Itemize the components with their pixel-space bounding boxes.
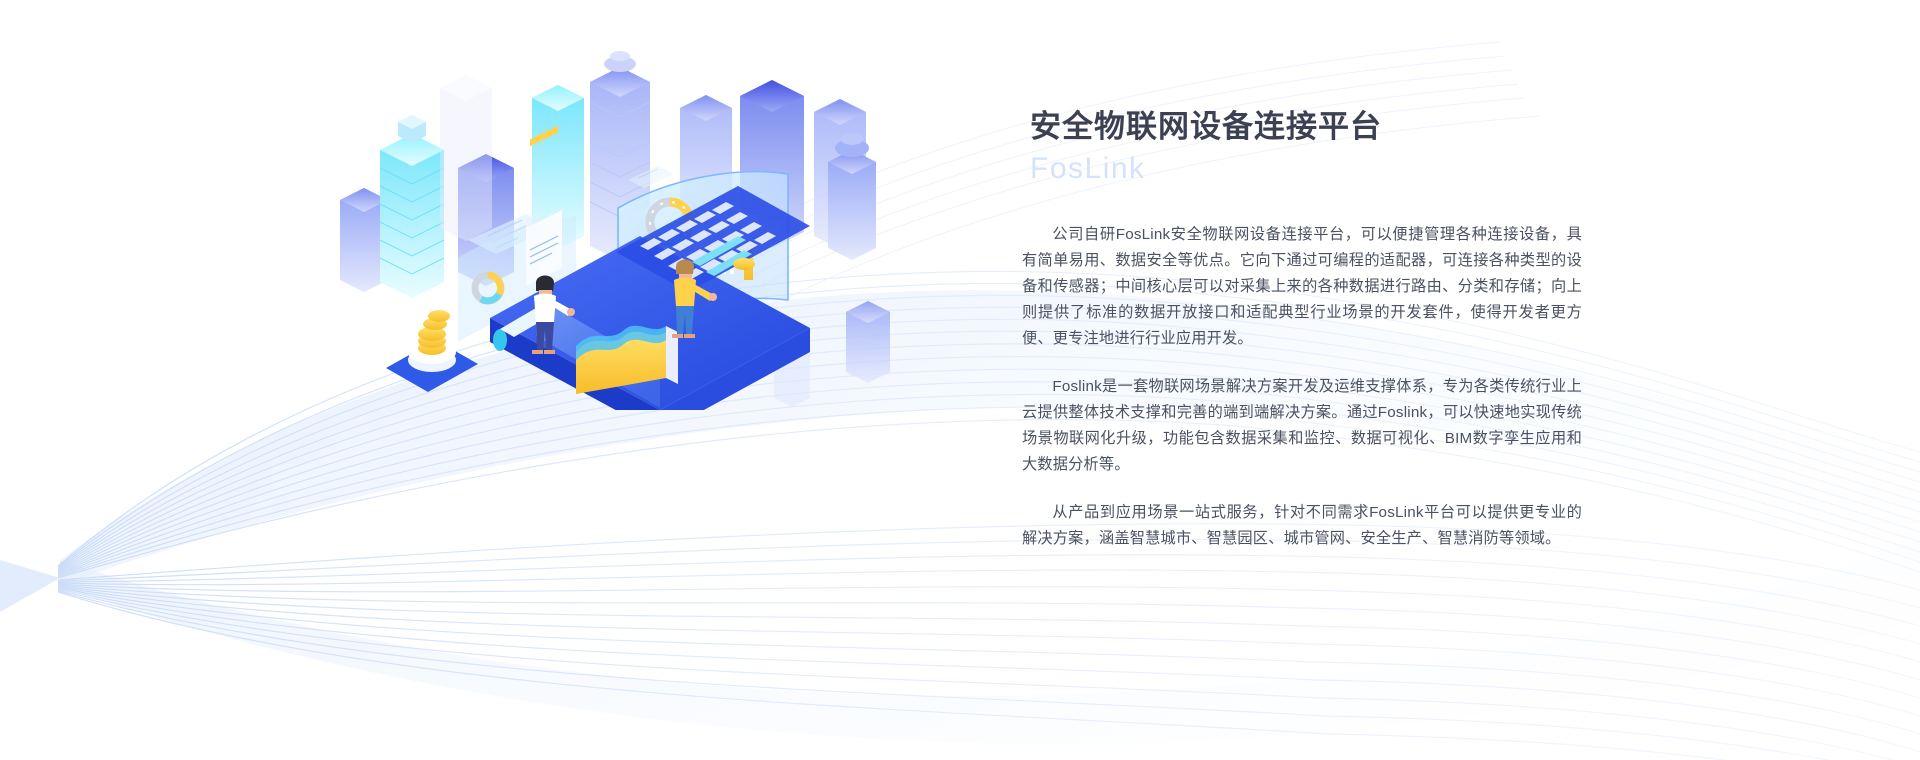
paragraph-3: 从产品到应用场景一站式服务，针对不同需求FosLink平台可以提供更专业的解决方…	[1022, 500, 1582, 552]
paragraph-1: 公司自研FosLink安全物联网设备连接平台，可以便捷管理各种连接设备，具有简单…	[1022, 222, 1582, 352]
paragraph-2: Foslink是一套物联网场景解决方案开发及运维支撑体系，专为各类传统行业上云提…	[1022, 374, 1582, 478]
page-title: 安全物联网设备连接平台	[1030, 108, 1582, 147]
hero-section: 安全物联网设备连接平台 FosLink 公司自研FosLink安全物联网设备连接…	[0, 0, 1920, 760]
page-subtitle: FosLink	[1030, 149, 1582, 188]
hero-copy: 安全物联网设备连接平台 FosLink 公司自研FosLink安全物联网设备连接…	[1022, 108, 1582, 552]
coin-token	[733, 258, 755, 270]
description-body: 公司自研FosLink安全物联网设备连接平台，可以便捷管理各种连接设备，具有简单…	[1022, 222, 1582, 552]
isometric-smart-city-illustration	[340, 50, 900, 410]
background-wave-lines	[0, 0, 1920, 760]
